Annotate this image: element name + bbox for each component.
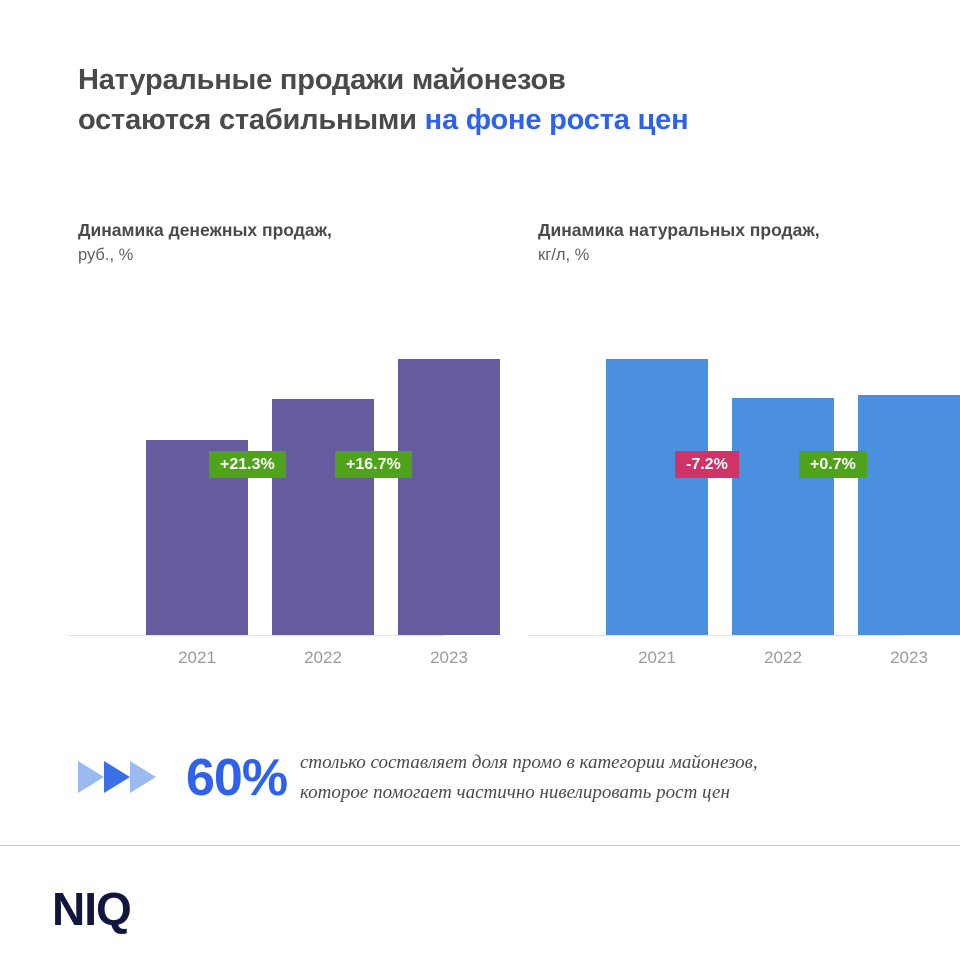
infographic-page: Натуральные продажи майонезов остаются с… [0, 0, 960, 960]
chart-money-plot: 2021 2022 2023 +21.3% +16.7% [68, 350, 444, 676]
badge-money-2022-2023: +16.7% [335, 451, 412, 478]
bar-volume-2021 [606, 359, 708, 635]
year-label-volume-2023: 2023 [858, 648, 960, 668]
triple-arrow-icon [78, 758, 176, 796]
title-line-2: остаются стабильными на фоне роста цен [78, 100, 878, 140]
chart-volume-caption: Динамика натуральных продаж, кг/л, % [538, 218, 938, 268]
chart-money-caption-units: руб., % [78, 243, 478, 268]
badge-volume-2021-2022: -7.2% [675, 451, 739, 478]
promo-share-callout: 60% столько составляет доля промо в кате… [78, 742, 878, 814]
footer-divider [0, 845, 960, 846]
year-label-volume-2021: 2021 [606, 648, 708, 668]
chart-volume-axis [528, 635, 904, 636]
chart-volume-plot: 2021 2022 2023 -7.2% +0.7% [528, 350, 904, 676]
bar-money-2022 [272, 399, 374, 635]
chart-money-caption-main: Динамика денежных продаж, [78, 218, 478, 243]
callout-description-line-2: которое помогает частично нивелировать р… [300, 778, 900, 808]
niq-logo: NIQ [52, 884, 131, 934]
chart-volume-caption-units: кг/л, % [538, 243, 938, 268]
bar-volume-2023 [858, 395, 960, 635]
bar-volume-2022 [732, 398, 834, 635]
year-label-money-2022: 2022 [272, 648, 374, 668]
year-label-volume-2022: 2022 [732, 648, 834, 668]
title-line-1: Натуральные продажи майонезов [78, 60, 878, 100]
title-line-2-accent: на фоне роста цен [425, 104, 689, 136]
chart-money-caption: Динамика денежных продаж, руб., % [78, 218, 478, 268]
page-title: Натуральные продажи майонезов остаются с… [78, 60, 878, 140]
year-label-money-2021: 2021 [146, 648, 248, 668]
callout-description: столько составляет доля промо в категори… [300, 748, 900, 808]
chart-money-sales: Динамика денежных продаж, руб., % 2021 2… [78, 218, 478, 268]
chart-money-axis [68, 635, 444, 636]
bar-money-2023 [398, 359, 500, 635]
chart-volume-sales: Динамика натуральных продаж, кг/л, % 202… [538, 218, 938, 268]
callout-number: 60% [186, 742, 287, 814]
title-line-2-plain: остаются стабильными [78, 104, 425, 136]
chart-volume-caption-main: Динамика натуральных продаж, [538, 218, 938, 243]
callout-description-line-1: столько составляет доля промо в категори… [300, 748, 900, 778]
badge-money-2021-2022: +21.3% [209, 451, 286, 478]
year-label-money-2023: 2023 [398, 648, 500, 668]
badge-volume-2022-2023: +0.7% [799, 451, 867, 478]
